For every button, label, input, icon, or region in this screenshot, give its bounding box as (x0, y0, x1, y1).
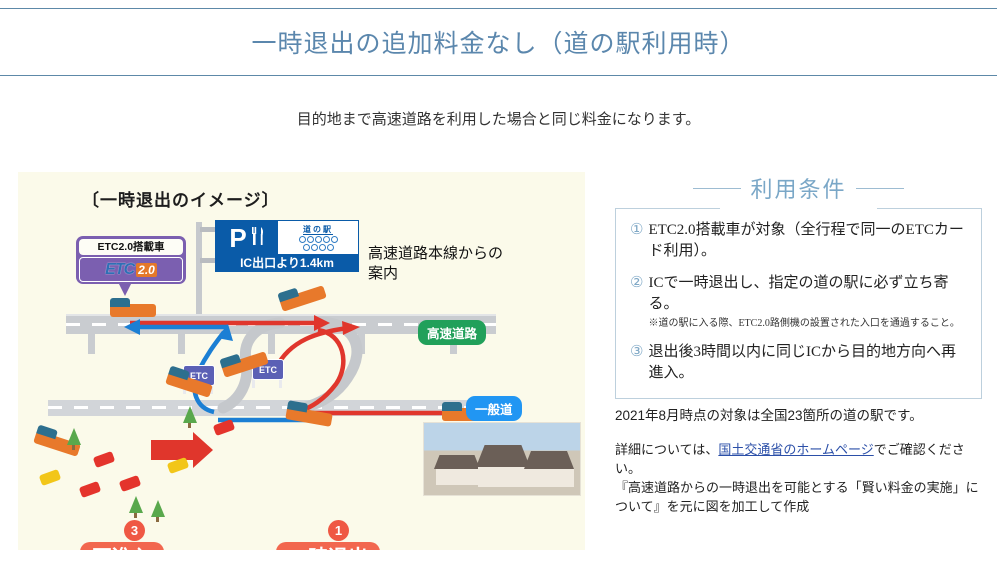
tree-icon (183, 406, 197, 423)
building-roof (434, 455, 480, 469)
building-wall (436, 469, 478, 485)
building-wall (526, 469, 574, 487)
source-prefix: 詳細については、 (615, 442, 718, 457)
conditions-section: 利用条件 ① ETC2.0搭載車が対象（全行程で同一のETCカード利用）。 ② … (615, 172, 982, 399)
bus-vehicle (110, 304, 156, 317)
building-roof (476, 445, 530, 467)
label-general-road: 一般道 (466, 396, 522, 421)
callout-label-reentry: 再進入 (80, 542, 164, 550)
condition-text: ICで一時退出し、指定の道の駅に必ず立ち寄る。 ※道の駅に入る際、ETC2.0路… (648, 273, 967, 331)
tree-icon (151, 500, 165, 517)
label-highway: 高速道路 (418, 320, 486, 345)
condition-note: ※道の駅に入る際、ETC2.0路側機の設置された入口を通過すること。 (648, 317, 967, 331)
page-subtitle: 目的地まで高速道路を利用した場合と同じ料金になります。 (0, 108, 997, 129)
callout-label-temp-exit: 一時退出 (276, 542, 380, 550)
page-header: 一時退出の追加料金なし（道の駅利用時） (0, 8, 997, 76)
condition-number: ② (630, 273, 643, 331)
conditions-heading: 利用条件 (615, 172, 982, 204)
building-roof (524, 451, 574, 469)
callout-number-1: 1 (328, 520, 349, 541)
condition-main-text: ICで一時退出し、指定の道の駅に必ず立ち寄る。 (648, 275, 948, 312)
condition-item-1: ① ETC2.0搭載車が対象（全行程で同一のETCカード利用）。 (630, 220, 967, 262)
condition-item-3: ③ 退出後3時間以内に同じICから目的地方向へ再進入。 (630, 342, 967, 384)
tree-icon (129, 496, 143, 513)
condition-item-2: ② ICで一時退出し、指定の道の駅に必ず立ち寄る。 ※道の駅に入る際、ETC2.… (630, 273, 967, 331)
condition-text: ETC2.0搭載車が対象（全行程で同一のETCカード利用）。 (648, 220, 967, 262)
conditions-title: 利用条件 (750, 172, 846, 204)
heading-rule-right (856, 188, 904, 189)
roadside-station-photo (423, 422, 581, 496)
illustration-panel: 〔一時退出のイメージ〕 ETC2.0搭載車 ETC 2.0 P (18, 172, 585, 550)
target-note: 2021年8月時点の対象は全国23箇所の道の駅です。 (615, 404, 987, 424)
bus-cab (110, 298, 130, 307)
condition-number: ① (630, 220, 643, 262)
callout-number-3: 3 (124, 520, 145, 541)
condition-text: 退出後3時間以内に同じICから目的地方向へ再進入。 (648, 342, 967, 384)
bus-cab (442, 402, 462, 411)
conditions-box: ① ETC2.0搭載車が対象（全行程で同一のETCカード利用）。 ② ICで一時… (615, 208, 982, 399)
condition-number: ③ (630, 342, 643, 384)
page-title: 一時退出の追加料金なし（道の駅利用時） (251, 24, 745, 60)
tree-icon (67, 428, 81, 445)
heading-rule-left (693, 188, 741, 189)
building-wall (478, 467, 528, 487)
mlit-homepage-link[interactable]: 国土交通省のホームページ (718, 442, 873, 457)
source-note: 詳細については、国土交通省のホームページでご確認ください。 『高速道路からの一時… (615, 440, 990, 516)
source-credit: 『高速道路からの一時退出を可能とする「賢い料金の実施」について』を元に図を加工し… (615, 480, 979, 514)
